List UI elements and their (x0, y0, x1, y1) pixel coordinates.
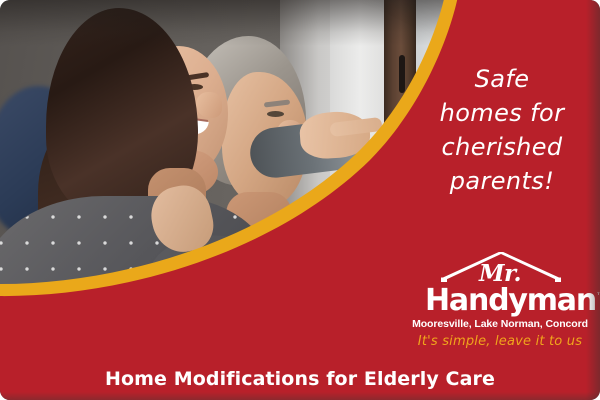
advertisement-card: Safe homes for cherished parents! Mr. Ha… (0, 0, 600, 400)
logo-locations-text: Mooresville, Lake Norman, Concord (404, 318, 596, 330)
logo-mark: Mr. Handyman™ (425, 252, 575, 314)
brand-logo[interactable]: Mr. Handyman™ Mooresville, Lake Norman, … (404, 252, 596, 349)
trademark-symbol: ™ (596, 292, 600, 302)
banner-title: Home Modifications for Elderly Care (105, 368, 495, 390)
bottom-banner: Home Modifications for Elderly Care (10, 358, 590, 400)
logo-handyman-wordmark: Handyman™ (425, 280, 575, 318)
headline-text: Safe homes for cherished parents! (412, 62, 592, 198)
logo-handyman-text: Handyman (425, 283, 596, 318)
logo-tagline-text: It's simple, leave it to us (404, 334, 596, 349)
